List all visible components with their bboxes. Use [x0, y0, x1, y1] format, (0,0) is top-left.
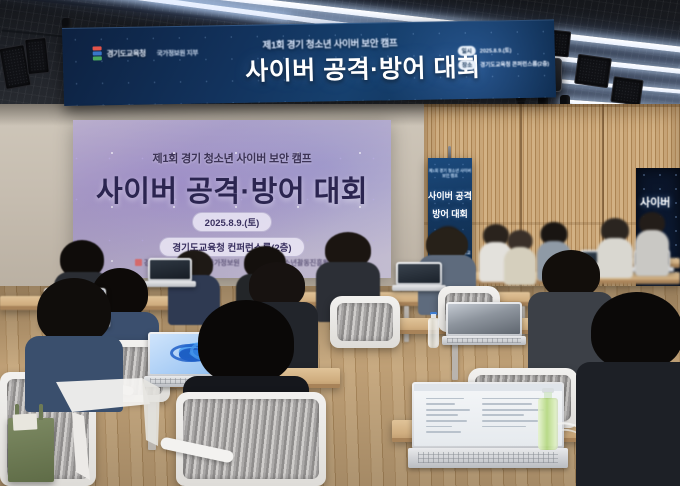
- conference-room-photo: 사이버 경기도교육청 국가정보원 지부 제1회 경기 청소년 사이버 보안 캠프…: [0, 0, 680, 486]
- person: [505, 230, 535, 282]
- banner-meta-pill: 일시: [458, 46, 476, 56]
- laptop-dark-screen: [446, 302, 522, 346]
- side-banner-text: 사이버: [640, 194, 670, 210]
- banner-meta-text: 경기도교육청 콘퍼런스룸(2층): [480, 60, 549, 69]
- green-drink-bottle: [538, 388, 558, 450]
- banner-meta-pill: 장소: [458, 60, 476, 70]
- chair-frame: [46, 376, 166, 486]
- banner-meta-text: 2025.8.9.(토): [480, 46, 512, 55]
- banner-meta-group: 일시 2025.8.9.(토) 장소 경기도교육청 콘퍼런스룸(2층): [458, 45, 550, 71]
- banner-logo-group: 경기도교육청 국가정보원 지부: [93, 45, 199, 61]
- laptop-dark-screen: [396, 262, 442, 292]
- person: [636, 212, 668, 274]
- banner-title: 사이버 공격·방어 대회: [245, 48, 481, 88]
- ceiling-speaker: [24, 37, 50, 75]
- banner-org-secondary: 국가정보원 지부: [157, 47, 199, 58]
- banner-org-primary: 경기도교육청: [107, 47, 146, 59]
- slide-title: 사이버 공격·방어 대회: [73, 168, 391, 210]
- slide-date-pill: 2025.8.9.(토): [192, 212, 273, 232]
- ceiling-speaker: [574, 54, 612, 88]
- standee-subtitle: 제1회 경기 청소년 사이버 보안 캠프: [428, 168, 472, 179]
- ceiling-speaker: [610, 76, 643, 106]
- slide-subtitle: 제1회 경기 청소년 사이버 보안 캠프: [73, 150, 391, 166]
- gyeonggi-logo-mark: [93, 46, 102, 60]
- banner-meta-row: 일시 2025.8.9.(토): [458, 45, 512, 56]
- overhead-banner: 경기도교육청 국가정보원 지부 제1회 경기 청소년 사이버 보안 캠프 사이버…: [62, 19, 556, 106]
- banner-meta-row: 장소 경기도교육청 콘퍼런스룸(2층): [458, 59, 549, 71]
- water-bottle: [428, 312, 439, 348]
- chair: [176, 392, 326, 486]
- person: [582, 292, 680, 486]
- standee-title-line2: 방어 대회: [428, 206, 472, 223]
- chair: [330, 296, 400, 348]
- standee-title-line1: 사이버 공격: [428, 188, 472, 205]
